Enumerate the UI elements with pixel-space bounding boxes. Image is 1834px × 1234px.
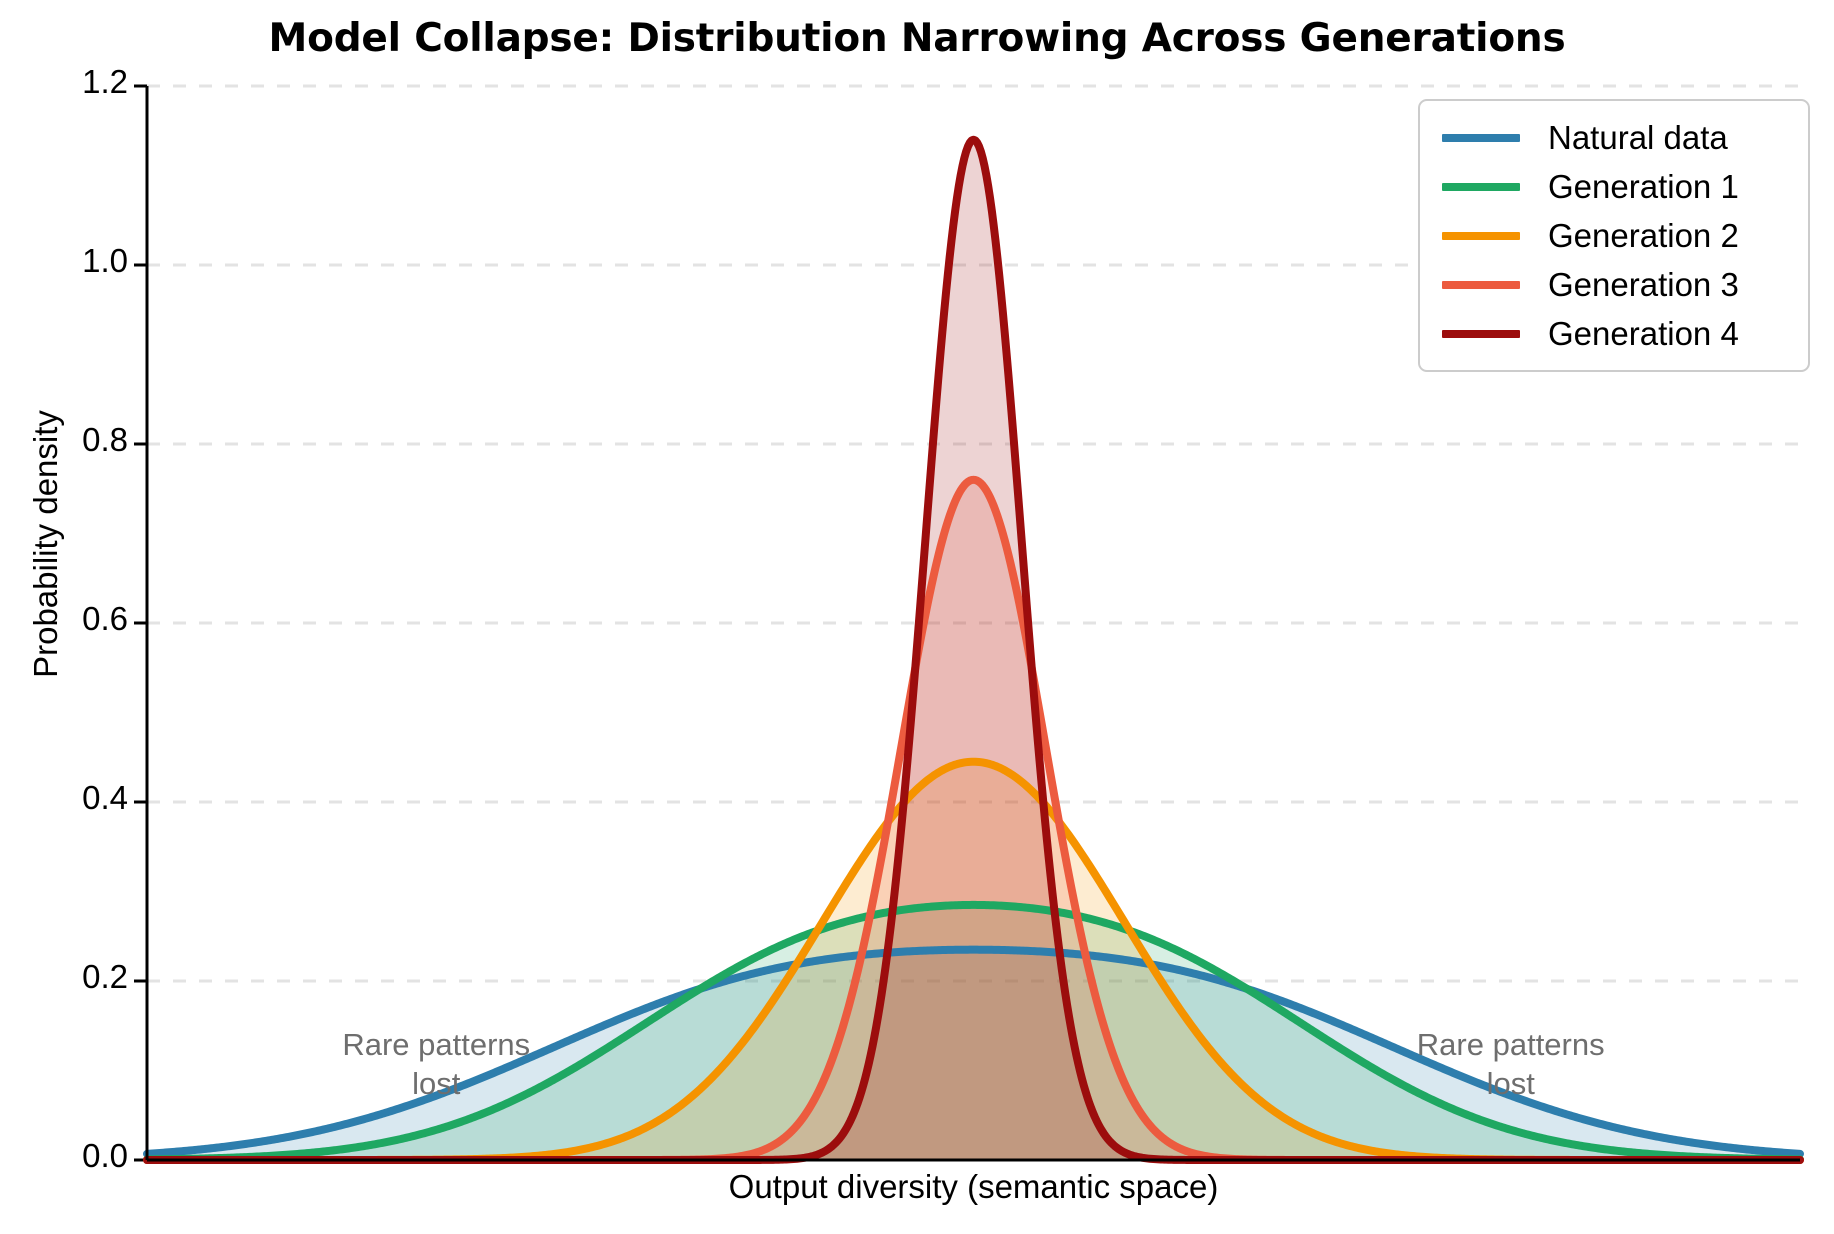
- legend-item-label: Generation 3: [1548, 266, 1739, 304]
- annotation-rare-patterns-left: Rare patterns lost: [276, 1026, 596, 1104]
- legend-item-generation-4[interactable]: Generation 4: [1420, 309, 1808, 358]
- legend-item-generation-2[interactable]: Generation 2: [1420, 211, 1808, 260]
- y-tick-label: 0.0: [28, 1137, 128, 1175]
- y-axis-label: Probability density: [27, 284, 65, 804]
- legend-color-swatch: [1442, 281, 1520, 289]
- chart-root: Model Collapse: Distribution Narrowing A…: [0, 0, 1834, 1234]
- legend-item-generation-1[interactable]: Generation 1: [1420, 162, 1808, 211]
- legend-item-label: Generation 4: [1548, 315, 1739, 353]
- chart-legend: Natural dataGeneration 1Generation 2Gene…: [1418, 99, 1810, 372]
- legend-item-label: Natural data: [1548, 119, 1728, 157]
- legend-item-natural-data[interactable]: Natural data: [1420, 113, 1808, 162]
- annotation-rare-patterns-right: Rare patterns lost: [1351, 1026, 1671, 1104]
- legend-color-swatch: [1442, 330, 1520, 338]
- legend-item-label: Generation 2: [1548, 217, 1739, 255]
- legend-item-generation-3[interactable]: Generation 3: [1420, 260, 1808, 309]
- legend-color-swatch: [1442, 183, 1520, 191]
- legend-color-swatch: [1442, 134, 1520, 142]
- y-tick-label: 0.2: [28, 958, 128, 996]
- x-axis-label: Output diversity (semantic space): [147, 1168, 1800, 1206]
- legend-item-label: Generation 1: [1548, 168, 1739, 206]
- y-tick-label: 1.0: [28, 242, 128, 280]
- legend-color-swatch: [1442, 232, 1520, 240]
- y-tick-label: 1.2: [28, 63, 128, 101]
